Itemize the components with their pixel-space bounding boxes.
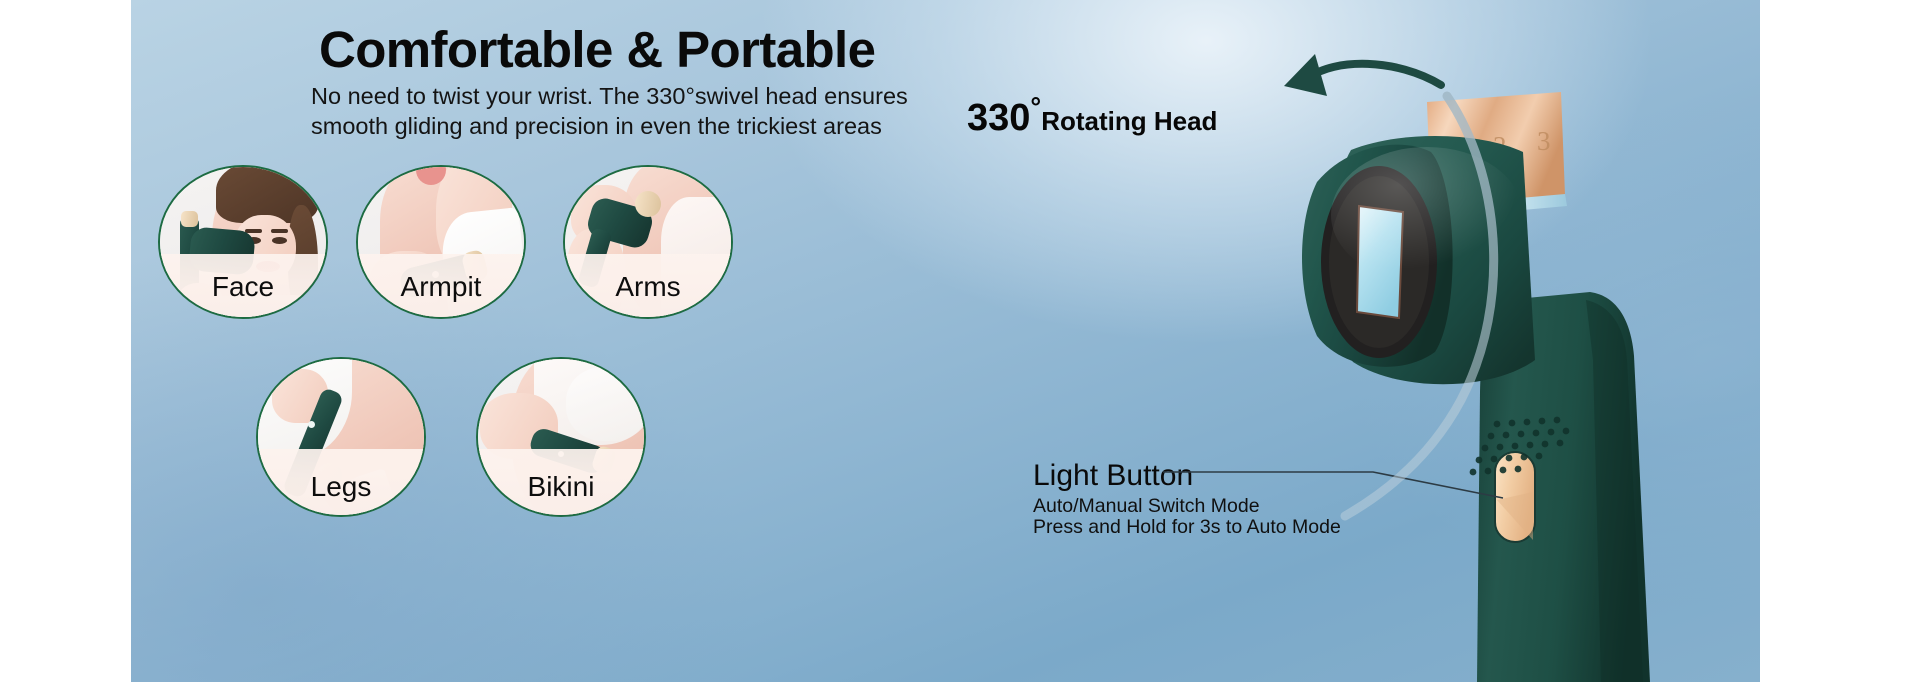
area-legs[interactable]: Legs [256,357,426,517]
device-gold-cap: 1 2 3 [1427,92,1567,218]
product-banner: Comfortable & Portable No need to twist … [0,0,1920,682]
area-armpit-label: Armpit [358,271,524,303]
device-rotating-head [1302,136,1569,475]
subtitle-line-1: No need to twist your wrist. The 330°swi… [311,83,871,110]
area-face-label: Face [160,271,326,303]
light-button [1495,452,1535,542]
page-title: Comfortable & Portable [319,20,875,79]
area-arms-label: Arms [565,271,731,303]
area-legs-label: Legs [258,471,424,503]
rotating-head-label: Rotating Head [1041,106,1217,136]
cap-marking-1: 1 [1453,136,1467,166]
rotation-arrow-icon [1284,54,1441,96]
light-button-detail-2: Press and Hold for 3s to Auto Mode [1033,516,1341,539]
vent-grille [1470,417,1570,476]
subtitle-line-2: smooth gliding and precision in even the… [311,113,871,140]
swivel-guide-band [1345,96,1494,516]
rotating-head-value: 330 [967,97,1030,139]
degree-symbol: ° [1030,92,1041,122]
light-button-title: Light Button [1033,459,1193,493]
area-arms[interactable]: Arms [563,165,733,319]
area-bikini[interactable]: Bikini [476,357,646,517]
area-armpit[interactable]: Armpit [356,165,526,319]
rotating-head-caption: 330°Rotating Head [967,92,1217,140]
device-handle [1477,292,1650,682]
area-face[interactable]: Face [158,165,328,319]
light-button-detail-1: Auto/Manual Switch Mode [1033,495,1260,518]
product-panel: Comfortable & Portable No need to twist … [131,0,1760,682]
flash-window [1357,206,1403,318]
cap-marking-2: 2 [1493,131,1507,161]
area-bikini-label: Bikini [478,471,644,503]
cap-marking-3: 3 [1537,126,1551,156]
